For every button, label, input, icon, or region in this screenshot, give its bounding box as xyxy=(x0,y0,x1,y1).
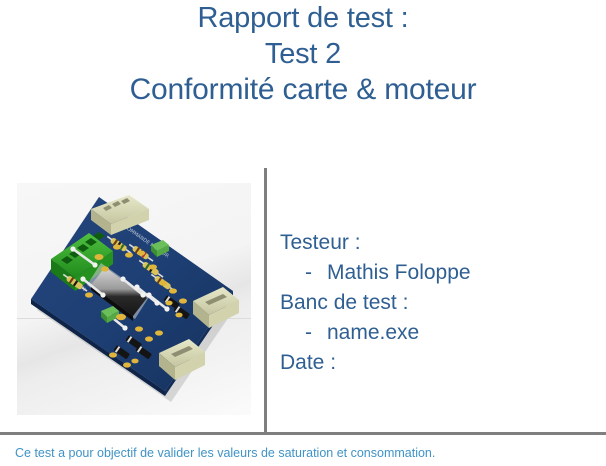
divider-horizontal xyxy=(0,432,606,435)
title-line-1: Rapport de test : xyxy=(0,0,606,36)
tester-value: Mathis Foloppe xyxy=(327,261,471,284)
page-title: Rapport de test : Test 2 Conformité cart… xyxy=(0,0,606,108)
bench-value: name.exe xyxy=(327,321,419,344)
bench-label: Banc de test : xyxy=(280,288,590,318)
bench-value-row: -name.exe xyxy=(280,318,590,348)
title-line-3: Conformité carte & moteur xyxy=(0,72,606,108)
pcb-3d-render-icon: CARTE COMMANDE MOTEUR S1 J1 CONN xyxy=(17,183,251,415)
footer-note: Ce test a pour objectif de valider les v… xyxy=(15,445,435,461)
test-metadata-block: Testeur : -Mathis Foloppe Banc de test :… xyxy=(280,228,590,378)
title-line-2: Test 2 xyxy=(0,36,606,72)
date-label: Date : xyxy=(280,348,590,378)
bullet-dash-icon-2: - xyxy=(305,318,327,348)
divider-vertical xyxy=(264,168,267,435)
pcb-image: CARTE COMMANDE MOTEUR S1 J1 CONN xyxy=(17,183,251,415)
tester-label: Testeur : xyxy=(280,228,590,258)
tester-value-row: -Mathis Foloppe xyxy=(280,258,590,288)
bullet-dash-icon: - xyxy=(305,258,327,288)
